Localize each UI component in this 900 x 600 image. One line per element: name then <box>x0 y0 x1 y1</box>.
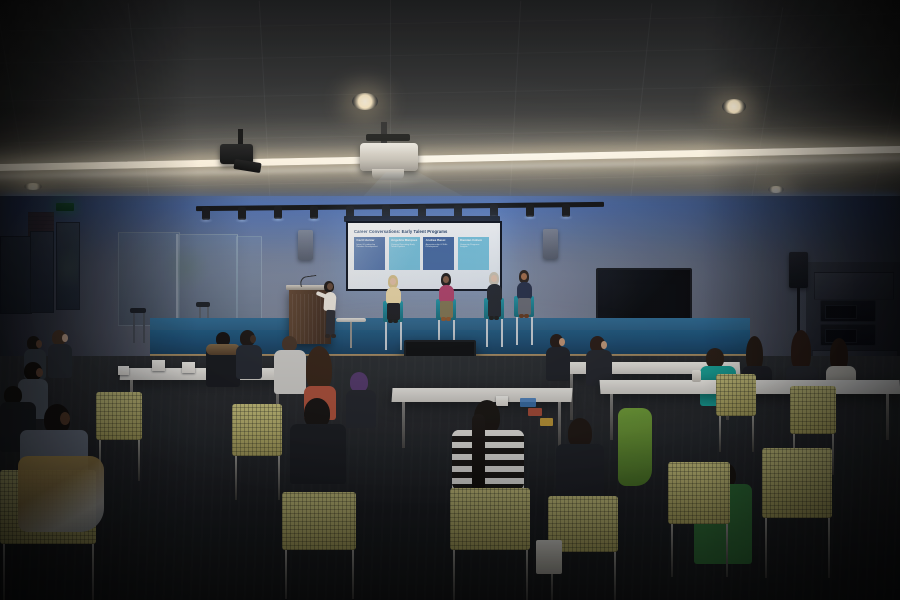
head <box>491 275 497 282</box>
chair-leg <box>138 440 140 481</box>
head <box>36 368 43 377</box>
attendee-purple-hair <box>346 372 380 432</box>
chair-leg <box>278 456 280 500</box>
tote-bag <box>536 540 562 574</box>
shoe <box>494 316 499 320</box>
shoe <box>446 317 451 321</box>
torso <box>556 444 604 500</box>
chair-leg <box>352 550 354 599</box>
chair-leg <box>765 518 767 578</box>
audience-chair <box>96 392 142 440</box>
chair-leg <box>3 544 5 600</box>
head <box>390 278 396 285</box>
panelist-2 <box>437 273 457 329</box>
torso <box>236 345 262 379</box>
draped-green-coat <box>618 408 652 486</box>
chair-leg <box>726 524 728 577</box>
attendee-right-1 <box>546 334 574 386</box>
head <box>601 341 607 349</box>
attendee-foreground-left <box>236 330 266 382</box>
printed-handout <box>540 418 553 426</box>
chair-leg <box>719 416 721 452</box>
chair-leg <box>671 524 673 577</box>
chair-leg <box>285 550 287 599</box>
tent-card <box>182 362 195 373</box>
fur-collar <box>206 344 240 355</box>
legs <box>440 301 453 318</box>
moderator <box>322 281 342 343</box>
panelist-3 <box>485 272 505 328</box>
head <box>521 273 527 280</box>
chair-leg <box>614 552 616 600</box>
chair-leg <box>526 550 528 600</box>
head <box>559 338 565 346</box>
tent-card <box>118 366 129 375</box>
chair-leg <box>453 550 455 600</box>
ceiling <box>0 0 900 215</box>
conference-room-scene: Career Conversations: Early Talent Progr… <box>0 0 900 600</box>
audience-chair <box>450 488 530 550</box>
torso <box>439 285 454 302</box>
shoe <box>393 319 398 323</box>
torso <box>487 284 502 301</box>
shoe <box>519 314 524 318</box>
chair-leg <box>235 456 237 500</box>
shoe <box>524 314 529 318</box>
legs <box>488 300 501 317</box>
legs <box>387 303 400 320</box>
downlight-icon <box>722 99 746 114</box>
head <box>62 334 68 342</box>
shoe <box>325 334 330 338</box>
chair-leg <box>92 544 94 600</box>
head <box>443 276 449 283</box>
shoe <box>388 319 393 323</box>
panelist-4 <box>515 270 535 326</box>
draped-coat <box>18 456 104 532</box>
torso <box>546 347 570 381</box>
audience-chair <box>790 386 836 434</box>
audience-chair <box>762 448 832 518</box>
head <box>327 283 333 290</box>
coffee-cup <box>692 370 701 382</box>
downlight-icon <box>352 93 378 110</box>
head <box>250 335 256 343</box>
shoe <box>331 334 336 338</box>
chair-leg <box>828 518 830 578</box>
table-leg <box>402 402 405 448</box>
downlight-icon <box>24 183 42 190</box>
head <box>60 412 70 425</box>
torso <box>386 287 401 304</box>
shoe <box>441 317 446 321</box>
ceiling-projector-icon <box>360 143 418 171</box>
braided-hair <box>472 414 485 492</box>
table-leg <box>886 394 889 440</box>
legs <box>325 310 335 335</box>
panelist-1 <box>384 275 404 331</box>
ceiling-vignette <box>0 0 900 215</box>
side-table-leg <box>350 322 352 348</box>
hair <box>282 336 297 351</box>
striped-sweater <box>452 430 524 490</box>
audience-chair <box>668 462 730 524</box>
legs <box>518 298 531 315</box>
head <box>36 340 42 348</box>
chair-leg <box>752 416 754 452</box>
printed-handout <box>528 408 542 416</box>
hair <box>350 372 368 392</box>
torso <box>517 282 532 299</box>
table-leg <box>610 394 613 440</box>
tent-card <box>152 360 165 371</box>
torso <box>290 424 346 484</box>
audience-chair <box>282 492 356 550</box>
attendee-left-2 <box>48 330 76 386</box>
downlight-icon <box>768 186 784 193</box>
shoe <box>489 316 494 320</box>
torso <box>346 390 376 428</box>
audience-chair <box>716 374 756 416</box>
chair-leg <box>832 434 834 475</box>
hair <box>706 348 724 368</box>
audience-chair <box>232 404 282 456</box>
